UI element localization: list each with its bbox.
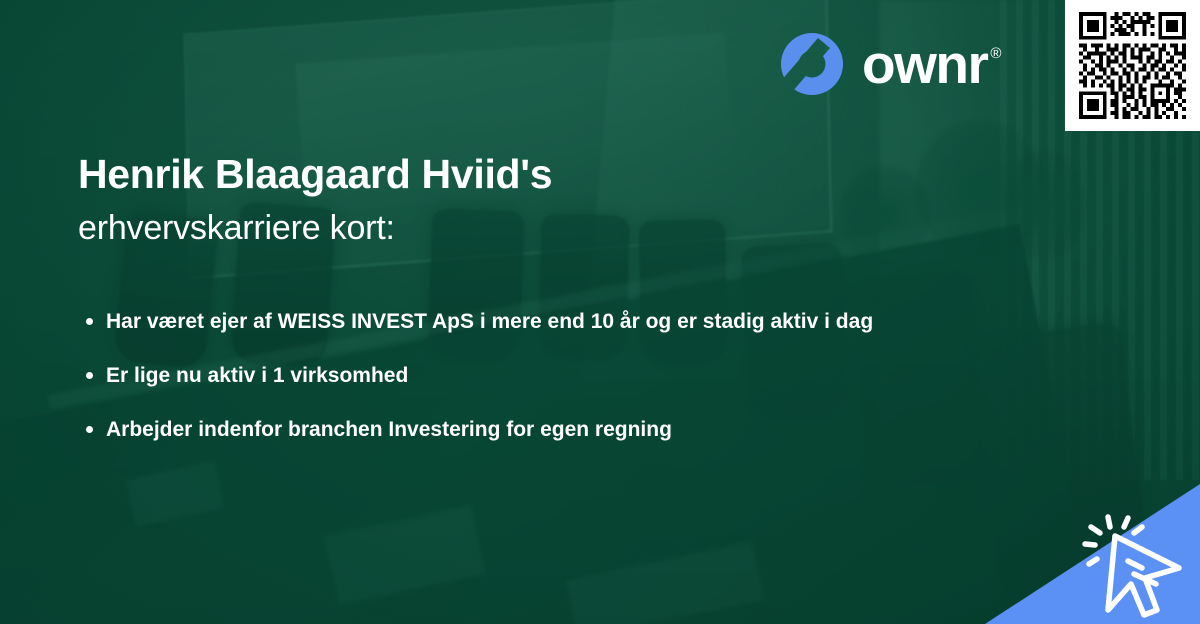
- list-item-text: Har været ejer af WEISS INVEST ApS i mer…: [106, 310, 873, 333]
- bullet-dot-icon: [86, 372, 93, 379]
- qr-code-image: [1075, 8, 1190, 123]
- click-cursor-icon: [1082, 514, 1192, 622]
- list-item-text: Er lige nu aktiv i 1 virksomhed: [106, 364, 408, 387]
- career-summary-card: ownr ®: [0, 0, 1200, 624]
- ownr-logo[interactable]: ownr ®: [778, 30, 1001, 98]
- career-summary-content: Henrik Blaagaard Hviid's erhvervskarrier…: [78, 152, 908, 467]
- list-item-text: Arbejder indenfor branchen Investering f…: [106, 418, 672, 441]
- career-highlights-list: Har været ejer af WEISS INVEST ApS i mer…: [78, 305, 908, 447]
- bullet-dot-icon: [86, 318, 93, 325]
- page-subtitle: erhvervskarriere kort:: [78, 208, 908, 249]
- ownr-wordmark: ownr: [862, 37, 987, 92]
- bullet-dot-icon: [86, 426, 93, 433]
- list-item: Arbejder indenfor branchen Investering f…: [78, 413, 876, 447]
- page-title: Henrik Blaagaard Hviid's: [78, 152, 908, 198]
- registered-trademark-symbol: ®: [990, 46, 1001, 61]
- list-item: Har været ejer af WEISS INVEST ApS i mer…: [78, 305, 876, 339]
- list-item: Er lige nu aktiv i 1 virksomhed: [78, 359, 876, 393]
- ownr-circle-swirl-icon: [778, 30, 846, 98]
- qr-code[interactable]: [1065, 0, 1200, 131]
